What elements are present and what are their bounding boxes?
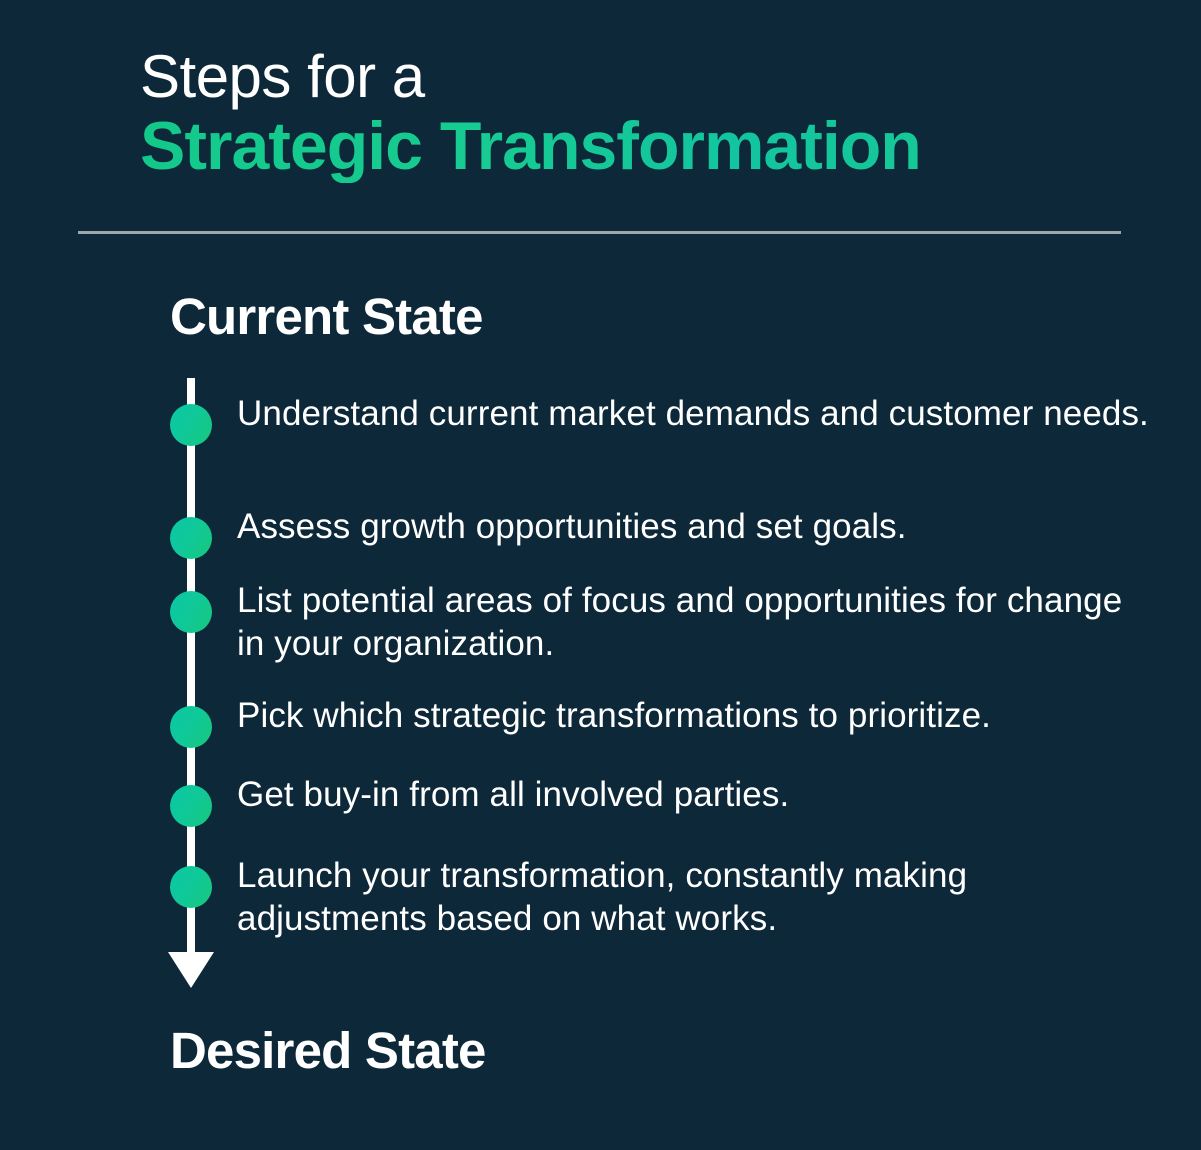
step-text: Get buy-in from all involved parties. bbox=[237, 773, 1157, 816]
step-text: Understand current market demands and cu… bbox=[237, 392, 1157, 435]
infographic-canvas: Steps for a Strategic Transformation Cur… bbox=[0, 0, 1201, 1150]
step-text: List potential areas of focus and opport… bbox=[237, 579, 1157, 665]
timeline-dot-icon bbox=[170, 706, 212, 748]
timeline-dot-icon bbox=[170, 785, 212, 827]
step-text: Assess growth opportunities and set goal… bbox=[237, 505, 1157, 548]
timeline-dot-icon bbox=[170, 866, 212, 908]
timeline-dot-icon bbox=[170, 404, 212, 446]
timeline-dot-icon bbox=[170, 591, 212, 633]
timeline-step-list: Understand current market demands and cu… bbox=[0, 0, 1201, 1150]
timeline-end-label: Desired State bbox=[170, 1021, 486, 1080]
timeline-dot-icon bbox=[170, 517, 212, 559]
step-text: Launch your transformation, constantly m… bbox=[237, 854, 1157, 940]
step-text: Pick which strategic transformations to … bbox=[237, 694, 1157, 737]
